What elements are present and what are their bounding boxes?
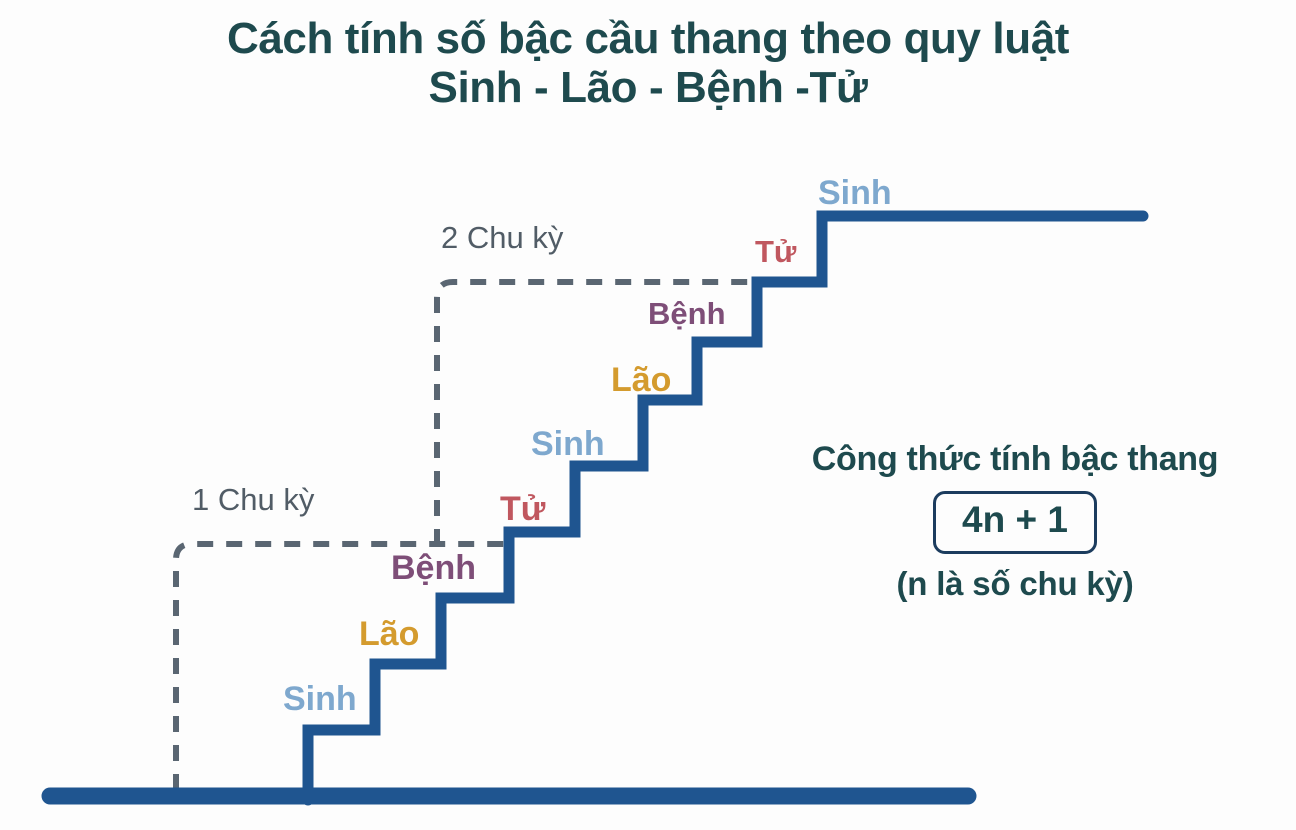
step-label-7-benh: Bệnh bbox=[648, 298, 726, 329]
step-label-8-tu: Tử bbox=[755, 236, 796, 267]
step-label-2-lao: Lão bbox=[359, 617, 419, 651]
step-label-3-benh: Bệnh bbox=[391, 551, 476, 585]
formula-expression-box: 4n + 1 bbox=[933, 491, 1097, 554]
formula-panel: Công thức tính bậc thang 4n + 1 (n là số… bbox=[745, 440, 1285, 603]
cycle-label-1: 1 Chu kỳ bbox=[192, 484, 314, 515]
step-label-9-sinh: Sinh bbox=[818, 176, 892, 210]
cycle-label-2: 2 Chu kỳ bbox=[441, 222, 563, 253]
step-label-6-lao: Lão bbox=[611, 363, 671, 397]
formula-note: (n là số chu kỳ) bbox=[745, 565, 1285, 603]
infographic-canvas: Cách tính số bậc cầu thang theo quy luật… bbox=[0, 0, 1296, 830]
step-label-1-sinh: Sinh bbox=[283, 682, 357, 716]
step-label-4-tu: Tử bbox=[500, 492, 545, 526]
staircase-diagram bbox=[0, 0, 1296, 830]
formula-heading: Công thức tính bậc thang bbox=[745, 440, 1285, 479]
step-label-5-sinh: Sinh bbox=[531, 427, 605, 461]
